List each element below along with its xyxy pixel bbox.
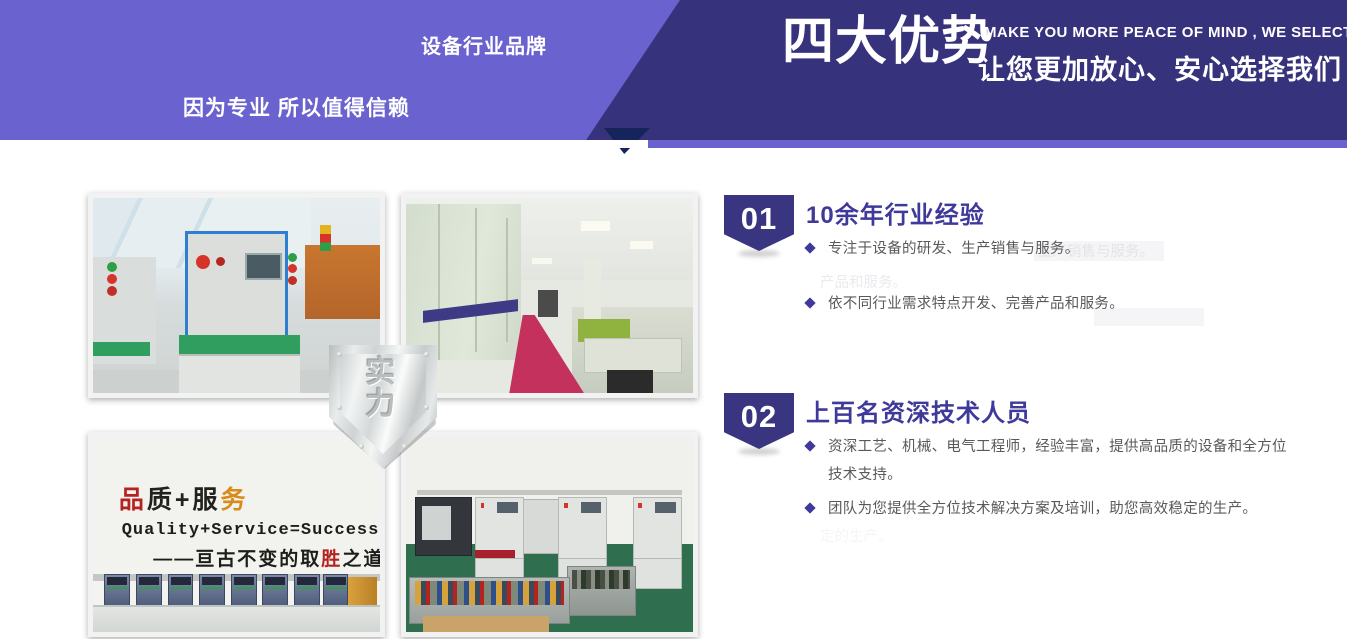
- wall-slogan-line1: 品质+服务: [119, 480, 249, 516]
- shield-label-line1: 实: [327, 357, 435, 389]
- advantage-lines: 专注于设备的研发、生产销售与服务。 依不同行业需求特点开发、完善产品和服务。: [806, 235, 1298, 345]
- wall-slogan-line3: ——亘古不变的取胜之道: [153, 544, 384, 571]
- section-title: 四大优势: [782, 16, 994, 68]
- photo-assembly-workshop[interactable]: [401, 432, 698, 637]
- diamond-bullet-icon: [804, 440, 815, 451]
- badge-shadow: [738, 448, 780, 455]
- photo-4-art: [406, 437, 693, 632]
- diamond-bullet-icon: [804, 297, 815, 308]
- page-root: 设备行业品牌 因为专业 所以值得信赖 四大优势 MAKE YOU MORE PE…: [0, 0, 1347, 639]
- advantage-line: 专注于设备的研发、生产销售与服务。: [806, 235, 1298, 263]
- shield-rivet: [359, 444, 364, 449]
- wall-slogan-line2: Quality+Service=Success: [122, 521, 380, 540]
- advantage-number-badge: 02: [724, 393, 794, 449]
- diamond-bullet-icon: [804, 502, 815, 513]
- advantage-line: 依不同行业需求特点开发、完善产品和服务。: [806, 290, 1298, 318]
- advantage-line-text: 专注于设备的研发、生产销售与服务。: [828, 241, 1080, 257]
- shield-rivet: [402, 444, 407, 449]
- advantage-line: 资深工艺、机械、电气工程师，经验丰富，提供高品质的设备和全方位技术支持。: [806, 433, 1298, 489]
- advantage-line-text: 团队为您提供全方位技术解决方案及培训，助您高效稳定的生产。: [828, 501, 1257, 517]
- brand-slogan: 因为专业 所以值得信赖: [183, 92, 410, 122]
- advantage-line-text: 资深工艺、机械、电气工程师，经验丰富，提供高品质的设备和全方位技术支持。: [828, 439, 1287, 483]
- advantage-title: 上百名资深技术人员: [806, 393, 1031, 428]
- photo-office-corridor[interactable]: [401, 193, 698, 398]
- shield-label-line2: 力: [327, 389, 435, 421]
- photo-2-art: [406, 198, 693, 393]
- section-subtitle-chinese: 让您更加放心、安心选择我们: [978, 48, 1342, 87]
- brand-tag: 设备行业品牌: [421, 30, 547, 59]
- section-subtitle-english: MAKE YOU MORE PEACE OF MIND , WE SELECT: [984, 24, 1347, 41]
- advantage-lines: 资深工艺、机械、电气工程师，经验丰富，提供高品质的设备和全方位技术支持。 团队为…: [806, 433, 1298, 529]
- badge-shadow: [738, 250, 780, 257]
- diamond-bullet-icon: [804, 242, 815, 253]
- advantage-number-badge: 01: [724, 195, 794, 251]
- advantage-line-text: 依不同行业需求特点开发、完善产品和服务。: [828, 296, 1124, 312]
- shield-label: 实 力: [327, 357, 435, 420]
- header-banner: 设备行业品牌 因为专业 所以值得信赖 四大优势 MAKE YOU MORE PE…: [0, 0, 1347, 148]
- advantage-title: 10余年行业经验: [806, 195, 985, 230]
- advantage-line: 团队为您提供全方位技术解决方案及培训，助您高效稳定的生产。: [806, 495, 1298, 523]
- advantage-list: 生产销售与服务。 产品和服务。 定的生产。 01 10余年行业经验 专注于设备的…: [724, 193, 1324, 613]
- strength-shield-badge: 实 力: [327, 343, 442, 473]
- banner-underline-mask: [0, 140, 648, 148]
